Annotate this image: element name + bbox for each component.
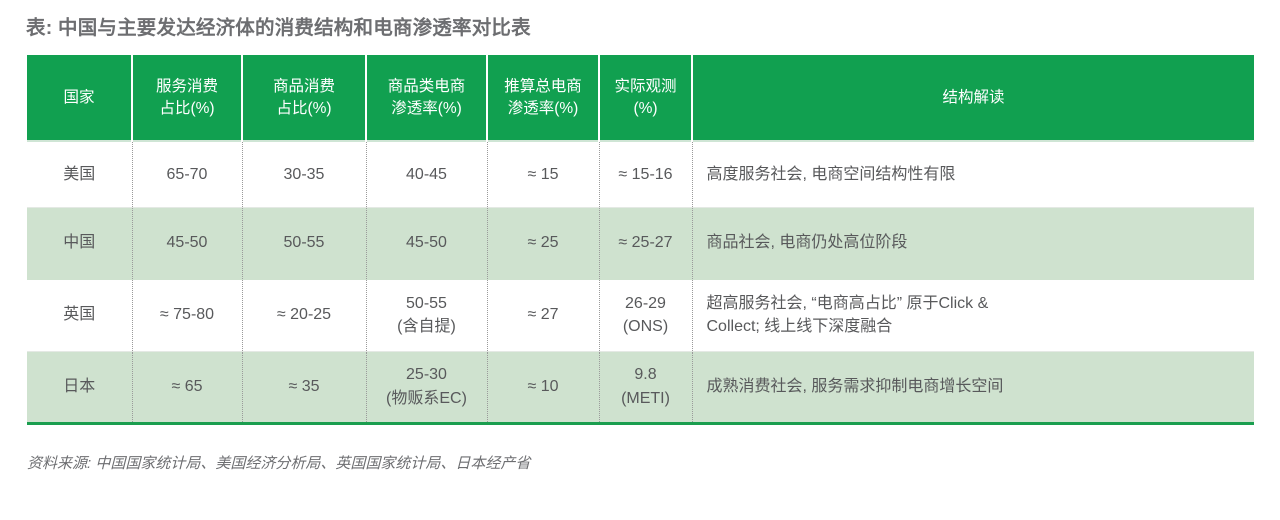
cell-goods-share: 50-55	[242, 207, 366, 279]
column-header-observed-line1: 实际观测	[606, 76, 685, 98]
table-header-row: 国家 服务消费 占比(%) 商品消费 占比(%) 商品类电商 渗透率(%)	[27, 55, 1254, 141]
cell-goods-ecommerce-rate-sub: (物贩系EC)	[375, 387, 479, 410]
column-header-goods-share-line1: 商品消费	[249, 76, 359, 98]
column-header-goods-share-line2: 占比(%)	[249, 98, 359, 120]
column-header-interpretation-line1: 结构解读	[699, 87, 1248, 109]
cell-goods-ecommerce-rate: 50-55 (含自提)	[366, 279, 487, 351]
cell-goods-ecommerce-rate: 45-50	[366, 207, 487, 279]
cell-observed: 26-29 (ONS)	[599, 279, 692, 351]
comparison-table: 国家 服务消费 占比(%) 商品消费 占比(%) 商品类电商 渗透率(%)	[27, 55, 1254, 425]
cell-observed: 9.8 (METI)	[599, 351, 692, 423]
column-header-goods-ecommerce-rate-line1: 商品类电商	[373, 76, 480, 98]
cell-observed-main: 26-29	[608, 292, 684, 315]
cell-observed-main: ≈ 25-27	[608, 231, 684, 254]
cell-goods-ecommerce-rate-main: 40-45	[375, 163, 479, 186]
cell-observed-sub: (METI)	[608, 387, 684, 410]
cell-interpretation-line2: Collect; 线上线下深度融合	[707, 315, 1237, 338]
comparison-table-container: 国家 服务消费 占比(%) 商品消费 占比(%) 商品类电商 渗透率(%)	[27, 55, 1254, 425]
cell-observed-main: 9.8	[608, 363, 684, 386]
cell-country: 中国	[27, 207, 132, 279]
table-row: 英国 ≈ 75-80 ≈ 20-25 50-55 (含自提) ≈ 27 26-2…	[27, 279, 1254, 351]
cell-goods-ecommerce-rate-main: 50-55	[375, 292, 479, 315]
cell-total-ecommerce-rate: ≈ 10	[487, 351, 599, 423]
column-header-country: 国家	[27, 55, 132, 141]
cell-country: 日本	[27, 351, 132, 423]
column-header-country-line1: 国家	[33, 87, 125, 109]
cell-observed-sub: (ONS)	[608, 315, 684, 338]
table-header: 国家 服务消费 占比(%) 商品消费 占比(%) 商品类电商 渗透率(%)	[27, 55, 1254, 141]
cell-observed: ≈ 15-16	[599, 141, 692, 207]
column-header-service-share: 服务消费 占比(%)	[132, 55, 242, 141]
cell-interpretation: 超高服务社会, “电商高占比” 原于Click & Collect; 线上线下深…	[692, 279, 1254, 351]
cell-interpretation-line1: 成熟消费社会, 服务需求抑制电商增长空间	[707, 375, 1237, 398]
cell-interpretation-line1: 高度服务社会, 电商空间结构性有限	[707, 163, 1237, 186]
cell-goods-ecommerce-rate: 25-30 (物贩系EC)	[366, 351, 487, 423]
page-title: 表: 中国与主要发达经济体的消费结构和电商渗透率对比表	[26, 11, 531, 40]
cell-country: 英国	[27, 279, 132, 351]
column-header-total-ecommerce-rate: 推算总电商 渗透率(%)	[487, 55, 599, 141]
cell-interpretation: 高度服务社会, 电商空间结构性有限	[692, 141, 1254, 207]
cell-observed-main: ≈ 15-16	[608, 163, 684, 186]
column-header-observed-line2: (%)	[606, 98, 685, 120]
table-figure-page: 表: 中国与主要发达经济体的消费结构和电商渗透率对比表 国家 服务消费 占比(%…	[0, 0, 1280, 520]
column-header-goods-share: 商品消费 占比(%)	[242, 55, 366, 141]
cell-interpretation-line1: 商品社会, 电商仍处高位阶段	[707, 231, 1237, 254]
source-note: 资料来源: 中国国家统计局、美国经济分析局、英国国家统计局、日本经产省	[27, 452, 530, 473]
cell-observed: ≈ 25-27	[599, 207, 692, 279]
table-row: 美国 65-70 30-35 40-45 ≈ 15 ≈ 15-16 高度服务社会…	[27, 141, 1254, 207]
column-header-goods-ecommerce-rate-line2: 渗透率(%)	[373, 98, 480, 120]
cell-goods-ecommerce-rate-main: 45-50	[375, 231, 479, 254]
cell-total-ecommerce-rate: ≈ 25	[487, 207, 599, 279]
column-header-goods-ecommerce-rate: 商品类电商 渗透率(%)	[366, 55, 487, 141]
cell-interpretation: 成熟消费社会, 服务需求抑制电商增长空间	[692, 351, 1254, 423]
cell-service-share: ≈ 75-80	[132, 279, 242, 351]
cell-total-ecommerce-rate: ≈ 27	[487, 279, 599, 351]
cell-goods-share: ≈ 35	[242, 351, 366, 423]
cell-goods-share: 30-35	[242, 141, 366, 207]
cell-service-share: ≈ 65	[132, 351, 242, 423]
cell-goods-ecommerce-rate-sub: (含自提)	[375, 315, 479, 338]
column-header-total-ecommerce-rate-line2: 渗透率(%)	[494, 98, 592, 120]
column-header-service-share-line1: 服务消费	[139, 76, 235, 98]
cell-service-share: 65-70	[132, 141, 242, 207]
table-row: 日本 ≈ 65 ≈ 35 25-30 (物贩系EC) ≈ 10 9.8 (MET…	[27, 351, 1254, 423]
cell-total-ecommerce-rate: ≈ 15	[487, 141, 599, 207]
table-row: 中国 45-50 50-55 45-50 ≈ 25 ≈ 25-27 商品社会, …	[27, 207, 1254, 279]
column-header-total-ecommerce-rate-line1: 推算总电商	[494, 76, 592, 98]
cell-interpretation: 商品社会, 电商仍处高位阶段	[692, 207, 1254, 279]
cell-service-share: 45-50	[132, 207, 242, 279]
column-header-interpretation: 结构解读	[692, 55, 1254, 141]
cell-goods-share: ≈ 20-25	[242, 279, 366, 351]
column-header-service-share-line2: 占比(%)	[139, 98, 235, 120]
cell-country: 美国	[27, 141, 132, 207]
cell-goods-ecommerce-rate: 40-45	[366, 141, 487, 207]
table-body: 美国 65-70 30-35 40-45 ≈ 15 ≈ 15-16 高度服务社会…	[27, 141, 1254, 423]
column-header-observed: 实际观测 (%)	[599, 55, 692, 141]
cell-interpretation-line1: 超高服务社会, “电商高占比” 原于Click &	[707, 292, 1237, 315]
cell-goods-ecommerce-rate-main: 25-30	[375, 363, 479, 386]
